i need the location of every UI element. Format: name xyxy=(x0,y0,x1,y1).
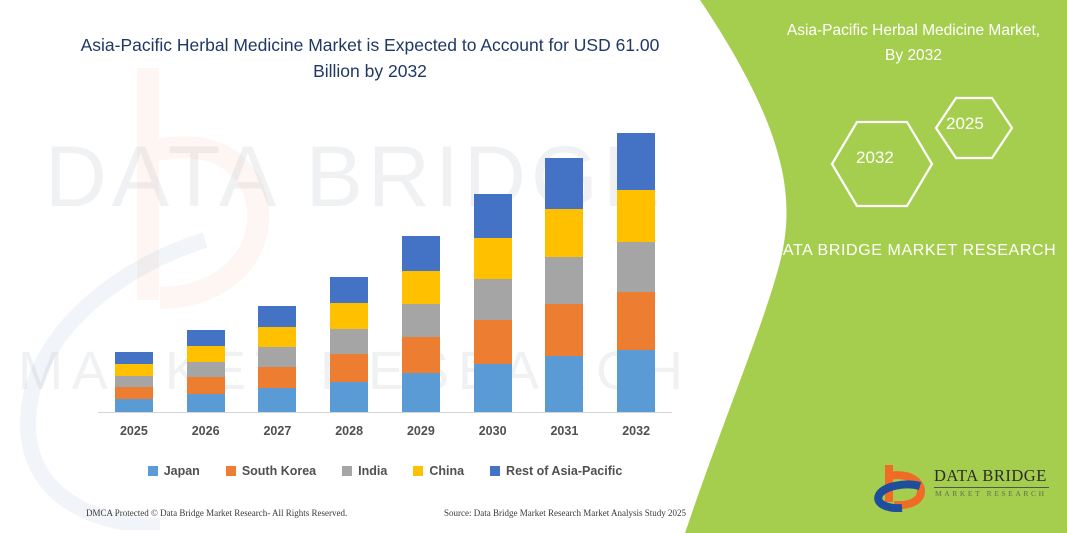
x-axis-label: 2027 xyxy=(242,424,314,438)
bar-segment xyxy=(115,387,153,399)
bar-segment xyxy=(617,350,655,412)
bar-segment xyxy=(545,209,583,257)
legend-item[interactable]: China xyxy=(413,464,464,478)
bar-segment xyxy=(330,329,368,355)
bar-column xyxy=(98,120,170,412)
bar-segment xyxy=(187,394,225,412)
bar-column xyxy=(385,120,457,412)
stacked-bar xyxy=(617,133,655,412)
bar-column xyxy=(600,120,672,412)
hexagon-group: 2025 2032 xyxy=(760,90,1067,220)
legend-swatch-icon xyxy=(148,466,158,476)
bar-column xyxy=(170,120,242,412)
bar-segment xyxy=(187,330,225,346)
logo-name: DATA BRIDGE xyxy=(934,466,1047,486)
stacked-bar xyxy=(187,330,225,412)
hexagon-outlines xyxy=(760,90,1067,220)
bar-segment xyxy=(617,242,655,292)
logo-divider xyxy=(934,487,1049,488)
bar-segment xyxy=(330,277,368,304)
legend-item[interactable]: India xyxy=(342,464,387,478)
bar-segment xyxy=(330,303,368,329)
chart-legend: JapanSouth KoreaIndiaChinaRest of Asia-P… xyxy=(98,464,672,478)
bar-segment xyxy=(187,346,225,362)
bar-segment xyxy=(617,190,655,242)
bar-segment xyxy=(402,373,440,412)
bar-segment xyxy=(258,367,296,388)
stacked-bar xyxy=(258,306,296,412)
legend-label: Japan xyxy=(164,464,200,478)
bar-segment xyxy=(258,388,296,412)
bar-segment xyxy=(115,399,153,412)
bar-column xyxy=(313,120,385,412)
chart-title: Asia-Pacific Herbal Medicine Market is E… xyxy=(60,32,680,84)
bar-segment xyxy=(617,292,655,350)
bar-segment xyxy=(474,279,512,319)
bar-segment xyxy=(187,362,225,378)
bar-segment xyxy=(545,304,583,356)
bar-segment xyxy=(545,356,583,412)
legend-swatch-icon xyxy=(413,466,423,476)
legend-label: India xyxy=(358,464,387,478)
x-axis-label: 2032 xyxy=(600,424,672,438)
green-panel-content: Asia-Pacific Herbal Medicine Market, By … xyxy=(760,0,1067,533)
x-axis-label: 2030 xyxy=(457,424,529,438)
infographic-root: DATA BRIDGE MARKET RESEARCH Asia-Pacific… xyxy=(0,0,1067,533)
bar-segment xyxy=(115,364,153,375)
bar-segment xyxy=(115,376,153,387)
stacked-bar-plot xyxy=(98,120,672,412)
bar-segment xyxy=(545,158,583,209)
bar-segment xyxy=(402,236,440,271)
bar-segment xyxy=(402,271,440,304)
panel-brand-text: DATA BRIDGE MARKET RESEARCH xyxy=(760,238,1067,263)
bar-segment xyxy=(258,327,296,347)
bar-column xyxy=(457,120,529,412)
footer-copyright: DMCA Protected © Data Bridge Market Rese… xyxy=(86,508,347,518)
stacked-bar xyxy=(545,158,583,412)
footer-source: Source: Data Bridge Market Research Mark… xyxy=(444,508,686,518)
x-axis-label: 2031 xyxy=(529,424,601,438)
bar-segment xyxy=(474,194,512,238)
legend-item[interactable]: South Korea xyxy=(226,464,316,478)
x-axis-label: 2029 xyxy=(385,424,457,438)
legend-swatch-icon xyxy=(342,466,352,476)
footer: DMCA Protected © Data Bridge Market Rese… xyxy=(86,508,686,518)
x-axis-label: 2026 xyxy=(170,424,242,438)
legend-label: Rest of Asia-Pacific xyxy=(506,464,622,478)
stacked-bar xyxy=(474,194,512,412)
legend-item[interactable]: Japan xyxy=(148,464,200,478)
bar-segment xyxy=(258,306,296,327)
bar-segment xyxy=(474,320,512,364)
hexagon-2032-label: 2032 xyxy=(856,148,894,168)
panel-title: Asia-Pacific Herbal Medicine Market, By … xyxy=(760,18,1067,68)
bar-column xyxy=(242,120,314,412)
legend-swatch-icon xyxy=(226,466,236,476)
x-axis-labels: 20252026202720282029203020312032 xyxy=(98,424,672,438)
bar-segment xyxy=(187,377,225,393)
bar-segment xyxy=(115,352,153,364)
logo-mark-icon xyxy=(872,462,932,512)
bar-segment xyxy=(545,257,583,304)
bar-column xyxy=(529,120,601,412)
x-axis-label: 2025 xyxy=(98,424,170,438)
bar-segment xyxy=(617,133,655,190)
bar-segment xyxy=(474,238,512,279)
legend-label: China xyxy=(429,464,464,478)
legend-swatch-icon xyxy=(490,466,500,476)
x-axis-line xyxy=(98,412,672,413)
bar-segment xyxy=(402,304,440,337)
stacked-bar xyxy=(402,236,440,412)
x-axis-label: 2028 xyxy=(313,424,385,438)
bar-segment xyxy=(474,364,512,412)
legend-label: South Korea xyxy=(242,464,316,478)
bar-segment xyxy=(330,382,368,412)
data-bridge-logo: DATA BRIDGE MARKET RESEARCH xyxy=(872,462,1057,514)
bar-segment xyxy=(258,347,296,367)
legend-item[interactable]: Rest of Asia-Pacific xyxy=(490,464,622,478)
stacked-bar xyxy=(115,352,153,412)
logo-tagline: MARKET RESEARCH xyxy=(935,489,1047,498)
bar-segment xyxy=(402,337,440,373)
stacked-bar xyxy=(330,277,368,412)
bar-segment xyxy=(330,354,368,381)
hexagon-2025-label: 2025 xyxy=(946,114,984,134)
